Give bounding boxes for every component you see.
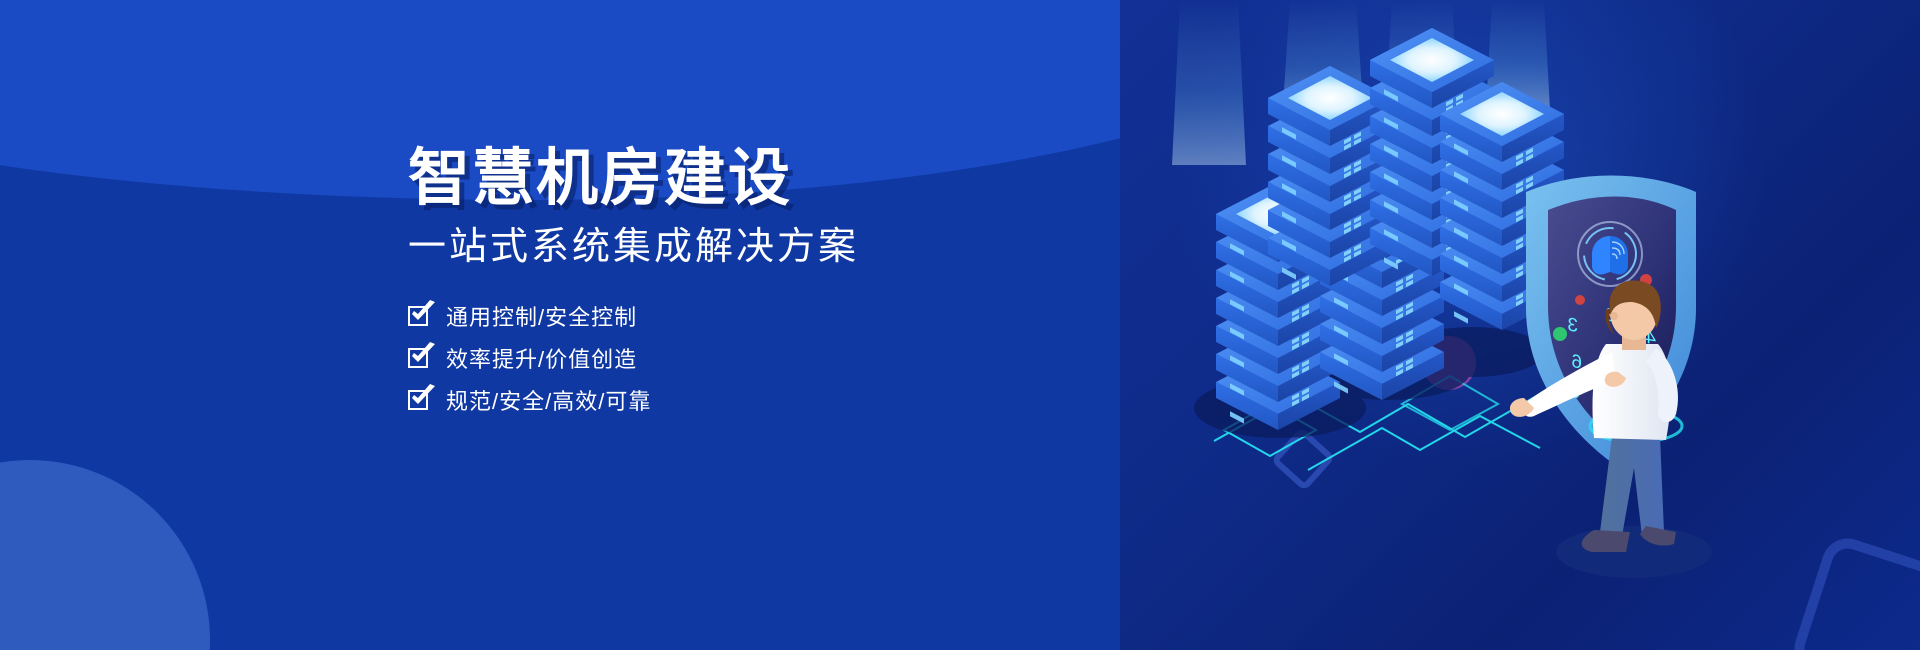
list-item: 规范/安全/高效/可靠 [408, 385, 1028, 415]
checkbox-check-icon [408, 346, 432, 370]
checkbox-check-icon [408, 388, 432, 412]
list-item: 效率提升/价值创造 [408, 343, 1028, 373]
feature-list: 通用控制/安全控制 效率提升/价值创造 [408, 301, 1028, 415]
svg-text:3: 3 [1567, 314, 1578, 337]
status-dot-green [1553, 327, 1567, 341]
person-shadow [1556, 526, 1712, 578]
left-content-panel: 智慧机房建设 一站式系统集成解决方案 通用控制/安全控制 [0, 0, 1120, 650]
feature-label: 通用控制/安全控制 [446, 300, 637, 332]
checkbox-check-icon [408, 304, 432, 328]
list-item: 通用控制/安全控制 [408, 301, 1028, 331]
feature-label: 效率提升/价值创造 [446, 342, 637, 374]
status-dot-red-2 [1575, 295, 1585, 305]
feature-label: 规范/安全/高效/可靠 [446, 384, 651, 416]
hero-banner: 智慧机房建设 一站式系统集成解决方案 通用控制/安全控制 [0, 0, 1920, 650]
isometric-data-center-scene: 1 2 3 4 5 6 7 8 9 0 [1120, 0, 1920, 650]
page-subtitle: 一站式系统集成解决方案 [408, 225, 1028, 271]
illustration-panel: 1 2 3 4 5 6 7 8 9 0 [1120, 0, 1920, 650]
page-title: 智慧机房建设 [408, 146, 1028, 211]
hero-text-block: 智慧机房建设 一站式系统集成解决方案 通用控制/安全控制 [408, 146, 1028, 431]
background-corner-blob [0, 460, 210, 650]
